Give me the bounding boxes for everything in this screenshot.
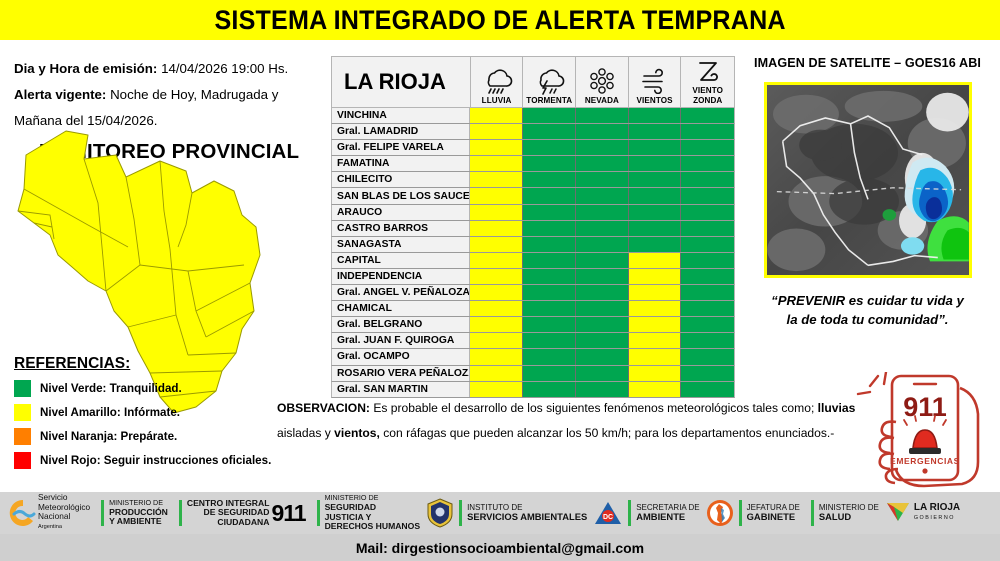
logo-justicia: MINISTERIO DE SEGURIDAD JUSTICIA Y DEREC… — [312, 494, 421, 532]
alert-cell-nevada — [576, 188, 629, 203]
observation-text-1: Es probable el desarrollo de los siguien… — [370, 401, 818, 415]
alert-cell-nevada — [576, 237, 629, 252]
table-row: ROSARIO VERA PEÑALOZA — [331, 366, 735, 382]
reference-item-green: Nivel Verde: Tranquilidad. — [14, 380, 279, 397]
alert-cell-lluvia — [470, 382, 523, 397]
logo-jefatura-gabinete: JEFATURA DE GABINETE — [706, 494, 800, 532]
alert-cell-viento_zonda — [681, 124, 734, 139]
alert-cell-viento_zonda — [681, 156, 734, 171]
alert-cell-viento_zonda — [681, 253, 734, 268]
table-row: Gral. ANGEL V. PEÑALOZA — [331, 285, 735, 301]
department-name: CASTRO BARROS — [332, 221, 470, 236]
page-title: SISTEMA INTEGRADO DE ALERTA TEMPRANA — [214, 5, 785, 36]
department-name: SAN BLAS DE LOS SAUCES — [332, 188, 470, 203]
column-header-tormenta: TORMENTA — [523, 57, 576, 107]
produccion-line-3: Y AMBIENTE — [109, 516, 162, 526]
alert-table: LA RIOJA LLUVIA — [331, 56, 735, 398]
alert-cell-lluvia — [470, 317, 523, 332]
alert-cell-vientos — [629, 205, 682, 220]
centro-seguridad-label: CENTRO INTEGRAL DE SEGURIDAD CIUDADANA — [187, 499, 270, 528]
defensa-civil-icon: DC — [593, 499, 623, 527]
alert-cell-tormenta — [523, 221, 576, 236]
table-row: CHAMICAL — [331, 301, 735, 317]
satellite-panel: IMAGEN DE SATELITE – GOES16 ABI — [740, 56, 995, 329]
thunderstorm-icon — [532, 66, 566, 96]
cisc-911-badge: 911 — [271, 500, 305, 527]
logo-ministerio-salud: MINISTERIO DE SALUD — [806, 494, 879, 532]
cisc-line-1: CENTRO INTEGRAL — [187, 498, 270, 508]
alert-cell-tormenta — [523, 205, 576, 220]
reference-item-yellow: Nivel Amarillo: Infórmate. — [14, 404, 279, 421]
alert-validity-label: Alerta vigente: — [14, 87, 106, 102]
prevention-quote-line-1: “PREVENIR es cuidar tu vida y — [740, 291, 995, 310]
alert-cell-viento_zonda — [681, 172, 734, 187]
swatch-orange — [14, 428, 31, 445]
observation-text-2: aisladas y — [277, 426, 334, 440]
alert-cell-lluvia — [470, 156, 523, 171]
alert-cell-viento_zonda — [681, 366, 734, 381]
larioja-line-1: LA RIOJA — [914, 502, 960, 513]
department-name: Gral. SAN MARTIN — [332, 382, 470, 397]
alert-cell-nevada — [576, 140, 629, 155]
alert-bulletin-page: SISTEMA INTEGRADO DE ALERTA TEMPRANA Dia… — [0, 0, 1000, 561]
gabinete-line-2: GABINETE — [747, 511, 795, 522]
alert-cell-tormenta — [523, 285, 576, 300]
alert-cell-tormenta — [523, 188, 576, 203]
reference-item-orange: Nivel Naranja: Prepárate. — [14, 428, 279, 445]
reference-item-red: Nivel Rojo: Seguir instrucciones oficial… — [14, 452, 279, 469]
alert-cell-nevada — [576, 124, 629, 139]
table-row: VINCHINA — [331, 108, 735, 124]
contact-email: Mail: dirgestionsocioambiental@gmail.com — [356, 540, 644, 556]
alert-cell-viento_zonda — [681, 382, 734, 397]
alert-cell-vientos — [629, 382, 682, 397]
table-row: Gral. LAMADRID — [331, 124, 735, 140]
divider-bar — [628, 500, 631, 526]
alert-cell-tormenta — [523, 317, 576, 332]
alert-cell-lluvia — [470, 140, 523, 155]
alert-cell-lluvia — [470, 188, 523, 203]
table-body: VINCHINAGral. LAMADRIDGral. FELIPE VAREL… — [331, 108, 735, 398]
snowflake-icon — [587, 66, 617, 96]
salud-label: MINISTERIO DE SALUD — [819, 504, 879, 522]
emission-datetime-line: Dia y Hora de emisión: 14/04/2026 19:00 … — [14, 56, 320, 82]
table-row: FAMATINA — [331, 156, 735, 172]
satellite-title: IMAGEN DE SATELITE – GOES16 ABI — [740, 56, 995, 70]
emergency-caption: EMERGENCIAS — [890, 456, 960, 466]
divider-bar — [101, 500, 104, 526]
reference-label-yellow: Nivel Amarillo: Infórmate. — [40, 406, 180, 419]
alert-cell-lluvia — [470, 124, 523, 139]
swatch-yellow — [14, 404, 31, 421]
table-row: CAPITAL — [331, 253, 735, 269]
table-row: CHILECITO — [331, 172, 735, 188]
alert-validity-value-1: Noche de Hoy, Madrugada y — [110, 87, 278, 102]
column-label-tormenta: TORMENTA — [526, 96, 572, 105]
justicia-line-4: DERECHOS HUMANOS — [325, 521, 421, 531]
logo-la-rioja-gobierno: LA RIOJA G O B I E R N O — [885, 494, 960, 532]
column-label-nevada: NEVADA — [585, 96, 619, 105]
alert-cell-tormenta — [523, 366, 576, 381]
alert-cell-tormenta — [523, 124, 576, 139]
column-header-viento-zonda: VIENTO ZONDA — [681, 57, 734, 107]
alert-cell-lluvia — [470, 269, 523, 284]
alert-cell-nevada — [576, 108, 629, 123]
alert-cell-tormenta — [523, 237, 576, 252]
alert-cell-vientos — [629, 188, 682, 203]
alert-cell-viento_zonda — [681, 317, 734, 332]
cisc-line-3: CIUDADANA — [217, 517, 269, 527]
alert-cell-vientos — [629, 317, 682, 332]
department-name: CAPITAL — [332, 253, 470, 268]
department-name: FAMATINA — [332, 156, 470, 171]
alert-cell-lluvia — [470, 172, 523, 187]
alert-cell-nevada — [576, 269, 629, 284]
la-rioja-label: LA RIOJA G O B I E R N O — [914, 504, 960, 522]
alert-cell-vientos — [629, 349, 682, 364]
alert-cell-lluvia — [470, 221, 523, 236]
alert-cell-nevada — [576, 205, 629, 220]
department-name: Gral. JUAN F. QUIROGA — [332, 333, 470, 348]
isa-label: INSTITUTO DE SERVICIOS AMBIENTALES — [467, 504, 587, 522]
column-header-lluvia: LLUVIA — [471, 57, 524, 107]
alert-cell-tormenta — [523, 108, 576, 123]
department-name: CHILECITO — [332, 172, 470, 187]
alert-cell-nevada — [576, 285, 629, 300]
alert-cell-vientos — [629, 221, 682, 236]
alert-cell-vientos — [629, 333, 682, 348]
gabinete-label: JEFATURA DE GABINETE — [747, 504, 800, 522]
table-row: INDEPENDENCIA — [331, 269, 735, 285]
alert-cell-tormenta — [523, 172, 576, 187]
alert-cell-nevada — [576, 366, 629, 381]
references-title: REFERENCIAS: — [14, 355, 279, 373]
reference-label-red: Nivel Rojo: Seguir instrucciones oficial… — [40, 454, 271, 467]
reference-label-green: Nivel Verde: Tranquilidad. — [40, 382, 182, 395]
alert-cell-vientos — [629, 253, 682, 268]
divider-bar — [459, 500, 462, 526]
alert-cell-lluvia — [470, 333, 523, 348]
divider-bar — [739, 500, 742, 526]
produccion-label: MINISTERIO DE PRODUCCIÓN Y AMBIENTE — [109, 499, 168, 527]
table-row: Gral. BELGRANO — [331, 317, 735, 333]
police-shield-icon — [426, 498, 454, 528]
alert-cell-vientos — [629, 285, 682, 300]
alert-cell-tormenta — [523, 156, 576, 171]
ambiente-line-2: AMBIENTE — [636, 511, 685, 522]
alert-cell-lluvia — [470, 253, 523, 268]
alert-cell-nevada — [576, 349, 629, 364]
table-row: Gral. FELIPE VARELA — [331, 140, 735, 156]
alert-cell-vientos — [629, 269, 682, 284]
table-row: Gral. JUAN F. QUIROGA — [331, 333, 735, 349]
emergency-911-graphic: 911 EMERGENCIAS — [856, 372, 998, 488]
divider-bar — [179, 500, 182, 526]
alert-cell-lluvia — [470, 237, 523, 252]
alert-cell-viento_zonda — [681, 269, 734, 284]
references-legend: REFERENCIAS: Nivel Verde: Tranquilidad. … — [14, 355, 279, 476]
column-header-vientos: VIENTOS — [629, 57, 682, 107]
la-rioja-flag-icon — [885, 501, 911, 525]
table-row: CASTRO BARROS — [331, 221, 735, 237]
observation-text: OBSERVACION: Es probable el desarrollo d… — [277, 396, 877, 446]
rain-cloud-icon — [480, 66, 514, 96]
produccion-line-2: PRODUCCIÓN — [109, 507, 168, 517]
mail-bar: Mail: dirgestionsocioambiental@gmail.com — [0, 534, 1000, 561]
cisc-line-2: DE SEGURIDAD — [204, 507, 270, 517]
observation-bold-lluvias: lluvias — [818, 401, 856, 415]
observation-bold-vientos: vientos, — [334, 426, 380, 440]
department-name: Gral. FELIPE VARELA — [332, 140, 470, 155]
alert-cell-viento_zonda — [681, 285, 734, 300]
wind-icon — [639, 66, 671, 96]
alert-cell-lluvia — [470, 108, 523, 123]
department-name: Gral. OCAMPO — [332, 349, 470, 364]
smn-label: Servicio Meteorológico Nacional Argentin… — [38, 493, 90, 533]
column-label-lluvia: LLUVIA — [482, 96, 512, 105]
alert-cell-nevada — [576, 382, 629, 397]
logo-secretaria-ambiente: DC SECRETARIA DE AMBIENTE — [593, 494, 699, 532]
larioja-line-2: G O B I E R N O — [914, 515, 954, 521]
zonda-wind-icon — [694, 57, 722, 86]
department-name: CHAMICAL — [332, 301, 470, 316]
department-name: INDEPENDENCIA — [332, 269, 470, 284]
table-row: Gral. OCAMPO — [331, 349, 735, 365]
smn-line-3: Nacional — [38, 511, 70, 521]
alert-cell-viento_zonda — [681, 221, 734, 236]
observation-label: OBSERVACION: — [277, 401, 370, 415]
alert-cell-tormenta — [523, 253, 576, 268]
alert-cell-nevada — [576, 317, 629, 332]
emission-date-label: Dia y Hora de emisión: — [14, 61, 157, 76]
column-header-nevada: NEVADA — [576, 57, 629, 107]
table-province-title: LA RIOJA — [332, 57, 471, 107]
alert-cell-lluvia — [470, 366, 523, 381]
divider-bar — [811, 500, 814, 526]
title-banner: SISTEMA INTEGRADO DE ALERTA TEMPRANA — [0, 0, 1000, 40]
prevention-quote: “PREVENIR es cuidar tu vida y la de toda… — [740, 291, 995, 329]
isa-line-2: SERVICIOS AMBIENTALES — [467, 511, 587, 522]
swatch-red — [14, 452, 31, 469]
alert-cell-viento_zonda — [681, 205, 734, 220]
smn-icon — [8, 498, 38, 528]
justicia-label: MINISTERIO DE SEGURIDAD JUSTICIA Y DEREC… — [325, 494, 421, 531]
logo-centro-seguridad: CENTRO INTEGRAL DE SEGURIDAD CIUDADANA 9… — [174, 494, 306, 532]
alert-cell-lluvia — [470, 349, 523, 364]
alert-cell-vientos — [629, 366, 682, 381]
salud-line-2: SALUD — [819, 511, 851, 522]
alert-cell-tormenta — [523, 349, 576, 364]
alert-cell-vientos — [629, 237, 682, 252]
alert-cell-viento_zonda — [681, 108, 734, 123]
alert-cell-viento_zonda — [681, 333, 734, 348]
logo-smn: Servicio Meteorológico Nacional Argentin… — [8, 494, 90, 532]
alert-cell-tormenta — [523, 301, 576, 316]
alert-cell-vientos — [629, 124, 682, 139]
table-row: SANAGASTA — [331, 237, 735, 253]
table-header-row: LA RIOJA LLUVIA — [331, 56, 735, 108]
swatch-green — [14, 380, 31, 397]
justicia-line-2: SEGURIDAD — [325, 502, 377, 512]
department-name: SANAGASTA — [332, 237, 470, 252]
alert-cell-nevada — [576, 221, 629, 236]
department-name: ROSARIO VERA PEÑALOZA — [332, 366, 470, 381]
alert-cell-vientos — [629, 156, 682, 171]
smn-line-4: Argentina — [38, 524, 62, 530]
footer-logo-strip: Servicio Meteorológico Nacional Argentin… — [0, 492, 1000, 534]
justicia-line-3: JUSTICIA Y — [325, 512, 372, 522]
alert-cell-nevada — [576, 253, 629, 268]
alert-cell-tormenta — [523, 382, 576, 397]
alert-cell-lluvia — [470, 301, 523, 316]
alert-cell-nevada — [576, 172, 629, 187]
table-row: SAN BLAS DE LOS SAUCES — [331, 188, 735, 204]
alert-cell-tormenta — [523, 140, 576, 155]
alert-cell-vientos — [629, 108, 682, 123]
alert-cell-vientos — [629, 140, 682, 155]
ambiente-label: SECRETARIA DE AMBIENTE — [636, 504, 699, 522]
emission-date-value: 14/04/2026 19:00 Hs. — [161, 61, 288, 76]
department-name: Gral. LAMADRID — [332, 124, 470, 139]
table-row: ARAUCO — [331, 205, 735, 221]
column-label-viento-zonda: VIENTO ZONDA — [681, 86, 734, 105]
alert-cell-lluvia — [470, 285, 523, 300]
alert-cell-viento_zonda — [681, 349, 734, 364]
alert-cell-tormenta — [523, 269, 576, 284]
satellite-image — [764, 82, 972, 278]
alert-cell-vientos — [629, 172, 682, 187]
department-name: VINCHINA — [332, 108, 470, 123]
alert-cell-viento_zonda — [681, 301, 734, 316]
alert-cell-viento_zonda — [681, 140, 734, 155]
observation-text-3: con ráfagas que pueden alcanzar los 50 k… — [380, 426, 834, 440]
emergency-number: 911 — [903, 392, 947, 422]
department-name: ARAUCO — [332, 205, 470, 220]
logo-instituto-servicios-ambientales: INSTITUTO DE SERVICIOS AMBIENTALES — [426, 494, 587, 532]
alert-cell-viento_zonda — [681, 188, 734, 203]
alert-cell-vientos — [629, 301, 682, 316]
alert-cell-nevada — [576, 156, 629, 171]
alert-cell-nevada — [576, 333, 629, 348]
alert-cell-lluvia — [470, 205, 523, 220]
logo-produccion: MINISTERIO DE PRODUCCIÓN Y AMBIENTE — [96, 494, 168, 532]
divider-bar — [317, 500, 320, 526]
alert-cell-nevada — [576, 301, 629, 316]
alert-cell-tormenta — [523, 333, 576, 348]
alert-validity-line: Alerta vigente: Noche de Hoy, Madrugada … — [14, 82, 320, 108]
gabinete-icon — [706, 499, 734, 527]
department-name: Gral. ANGEL V. PEÑALOZA — [332, 285, 470, 300]
svg-text:DC: DC — [603, 514, 613, 521]
alert-cell-viento_zonda — [681, 237, 734, 252]
column-label-vientos: VIENTOS — [637, 96, 673, 105]
prevention-quote-line-2: la de toda tu comunidad”. — [740, 310, 995, 329]
reference-label-orange: Nivel Naranja: Prepárate. — [40, 430, 177, 443]
department-name: Gral. BELGRANO — [332, 317, 470, 332]
